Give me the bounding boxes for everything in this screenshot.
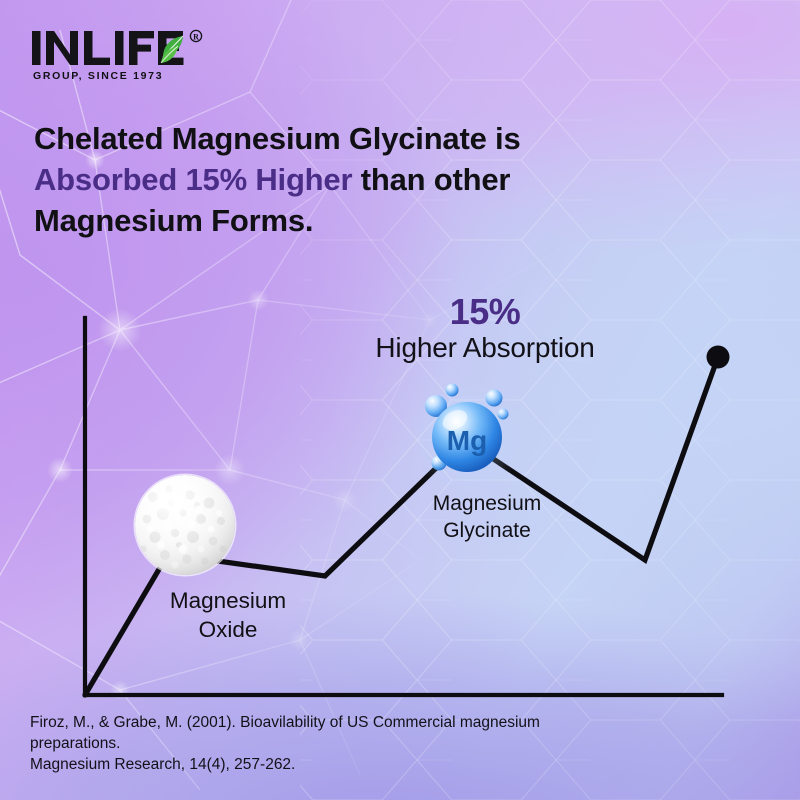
oxide-label-line-1: Magnesium xyxy=(170,588,286,613)
citation-line-2: preparations. xyxy=(30,733,750,754)
mg-symbol-text: Mg xyxy=(447,425,487,456)
citation-line-3: Magnesium Research, 14(4), 257-262. xyxy=(30,754,750,775)
glycinate-label-line-2: Glycinate xyxy=(443,519,531,542)
absorption-percent-callout: 15% xyxy=(350,292,620,332)
citation-line-1: Firoz, M., & Grabe, M. (2001). Bioavilab… xyxy=(30,712,750,733)
endpoint-marker xyxy=(707,346,730,369)
absorption-line-chart: Mg xyxy=(0,0,800,800)
infographic-canvas: R GROUP, SINCE 1973 Chelated Magnesium G… xyxy=(0,0,800,800)
glycinate-label-line-1: Magnesium xyxy=(433,492,542,515)
oxide-label-line-2: Oxide xyxy=(199,617,258,642)
bubble-small-2 xyxy=(446,384,459,397)
source-citation: Firoz, M., & Grabe, M. (2001). Bioavilab… xyxy=(30,712,750,775)
bubble-small-3 xyxy=(486,390,503,407)
bubble-small-4 xyxy=(498,409,509,420)
magnesium-molecule-icon: Mg xyxy=(411,381,523,493)
magnesium-glycinate-label: Magnesium Glycinate xyxy=(382,490,592,544)
powder-texture xyxy=(135,475,235,575)
magnesium-oxide-powder-image xyxy=(135,475,235,575)
absorption-caption: Higher Absorption xyxy=(330,330,640,366)
magnesium-oxide-label: Magnesium Oxide xyxy=(118,586,338,644)
